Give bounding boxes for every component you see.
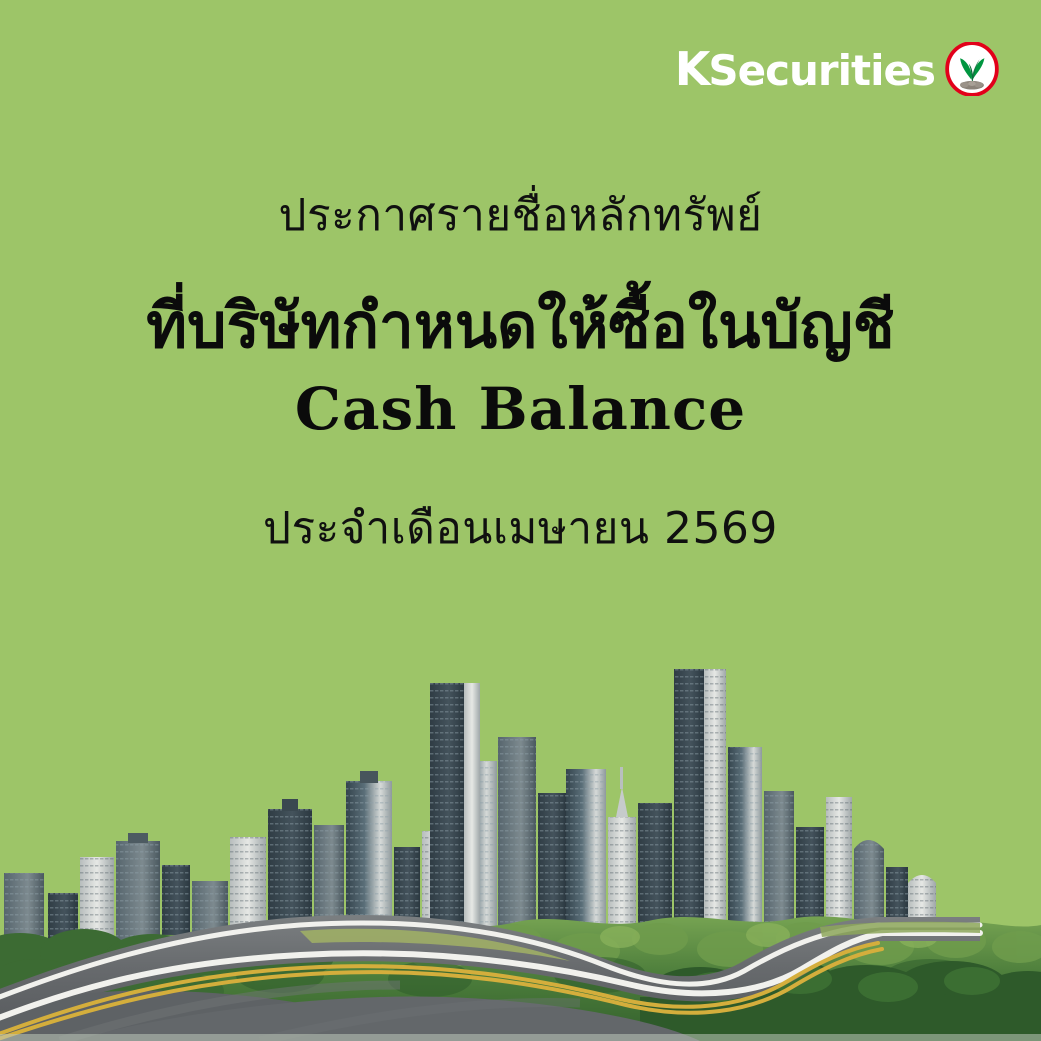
- brand-wordmark: KSecurities: [675, 46, 935, 92]
- poster-canvas: KSecurities ประกาศรายชื่อหลักทรัพย์ ที่บ…: [0, 0, 1041, 1041]
- brand-wordmark-lead: K: [675, 46, 709, 92]
- seedling-in-circle-icon: [945, 42, 999, 96]
- city-skyline-illustration: [0, 641, 1041, 1041]
- brand-wordmark-rest: Securities: [708, 50, 935, 92]
- headline-period: ประจำเดือนเมษายน 2569: [0, 501, 1041, 556]
- headline-block: ประกาศรายชื่อหลักทรัพย์ ที่บริษัทกำหนดให…: [0, 188, 1041, 556]
- headline-kicker: ประกาศรายชื่อหลักทรัพย์: [0, 188, 1041, 243]
- brand-logo[interactable]: KSecurities: [675, 42, 999, 96]
- bottom-haze-strip: [0, 1034, 1041, 1041]
- headline-latin: Cash Balance: [0, 375, 1041, 445]
- headline-main: ที่บริษัทกำหนดให้ซื้อในบัญชี: [0, 289, 1041, 363]
